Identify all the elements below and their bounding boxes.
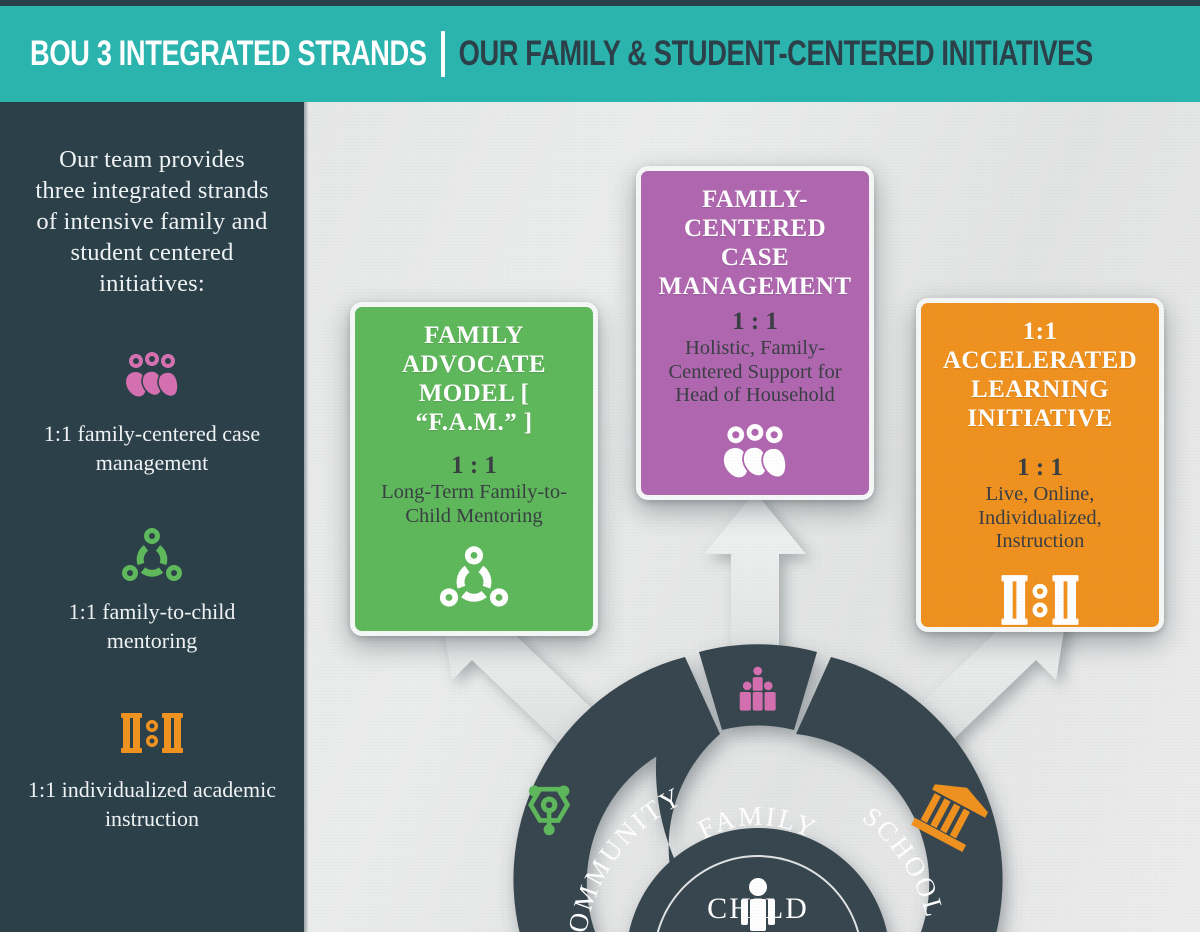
wheel-center-label: CHILD	[458, 892, 1058, 926]
card-family-advocate-model[interactable]: FAMILY ADVOCATE MODEL [ “F.A.M.” ] 1 : 1…	[350, 302, 598, 636]
sidebar-item-label: 1:1 family-centered case management	[20, 419, 284, 477]
abacus-icon	[999, 554, 1081, 641]
card-ratio: 1 : 1	[1017, 453, 1063, 483]
diagram-stage: FAMILY ADVOCATE MODEL [ “F.A.M.” ] 1 : 1…	[308, 102, 1200, 932]
wheel-svg: FAMILY COMMUNITY SCHOOL	[458, 630, 1058, 932]
sidebar-item-label: 1:1 family-to-child mentoring	[20, 597, 284, 655]
card-accelerated-learning-initiative[interactable]: 1:1 ACCELERATED LEARNING INITIATIVE 1 : …	[916, 298, 1164, 632]
child-ecosystem-wheel: FAMILY COMMUNITY SCHOOL	[458, 630, 1058, 932]
card-ratio: 1 : 1	[451, 451, 497, 481]
card-description: Holistic, Family-Centered Support for He…	[657, 337, 853, 408]
header-inner: BOU 3 INTEGRATED STRANDS OUR FAMILY & ST…	[0, 27, 1200, 81]
card-ratio: 1 : 1	[732, 307, 778, 337]
sidebar-item-case-management: 1:1 family-centered case management	[20, 345, 284, 477]
network-nodes-icon	[20, 523, 284, 587]
card-description: Live, Online, Individualized, Instructio…	[937, 483, 1143, 554]
network-nodes-icon	[438, 528, 510, 621]
card-family-centered-case-management[interactable]: FAMILY-CENTERED CASE MANAGEMENT 1 : 1 Ho…	[636, 166, 874, 500]
header-title-secondary: OUR FAMILY & STUDENT-CENTERED INITIATIVE…	[459, 34, 1093, 74]
abacus-icon	[20, 701, 284, 765]
sidebar-item-label: 1:1 individualized academic instruction	[20, 775, 284, 833]
sidebar-item-academic-instruction: 1:1 individualized academic instruction	[20, 701, 284, 833]
sidebar-item-mentoring: 1:1 family-to-child mentoring	[20, 523, 284, 655]
card-title: FAMILY ADVOCATE MODEL [ “F.A.M.” ]	[371, 321, 577, 437]
header-title-primary: BOU 3 INTEGRATED STRANDS	[30, 34, 427, 74]
family-group-icon	[718, 408, 792, 495]
page-header: BOU 3 INTEGRATED STRANDS OUR FAMILY & ST…	[0, 0, 1200, 102]
card-title: FAMILY-CENTERED CASE MANAGEMENT	[657, 185, 853, 301]
sidebar-intro-text: Our team provides three integrated stran…	[20, 144, 284, 299]
sidebar: Our team provides three integrated stran…	[0, 102, 304, 932]
card-description: Long-Term Family-to-Child Mentoring	[371, 481, 577, 528]
family-group-icon	[20, 345, 284, 409]
card-title: 1:1 ACCELERATED LEARNING INITIATIVE	[937, 317, 1143, 433]
header-title-divider	[441, 31, 445, 77]
header-title: BOU 3 INTEGRATED STRANDS OUR FAMILY & ST…	[30, 31, 1093, 77]
